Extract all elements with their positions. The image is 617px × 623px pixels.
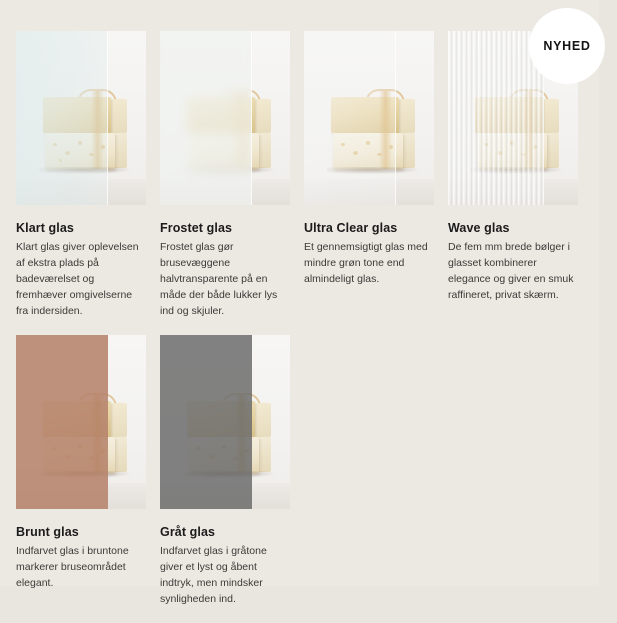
glass-grid-row: Brunt glas Indfarvet glas i bruntone mar… xyxy=(16,335,586,607)
glass-description: Indfarvet glas i bruntone markerer bruse… xyxy=(16,543,146,591)
twine-wrap xyxy=(91,395,104,473)
photo-floor xyxy=(448,179,578,205)
glass-description: Indfarvet glas i gråtone giver et lyst o… xyxy=(160,543,290,607)
glass-image-ultra-clear-glas xyxy=(304,31,434,205)
nyhed-badge: NYHED xyxy=(529,8,605,84)
soap-bar-bottom xyxy=(333,133,403,169)
glass-options-grid: Klart glas Klart glas giver oplevelsen a… xyxy=(16,31,586,623)
twine-wrap xyxy=(523,91,536,169)
glass-description: Klart glas giver oplevelsen af ekstra pl… xyxy=(16,239,146,319)
glass-card-klart-glas[interactable]: Klart glas Klart glas giver oplevelsen a… xyxy=(16,31,146,319)
soap-bar-bottom xyxy=(477,133,547,169)
glass-image-brunt-glas xyxy=(16,335,146,509)
twine-wrap xyxy=(379,91,392,169)
glass-description: Et gennemsigtigt glas med mindre grøn to… xyxy=(304,239,434,287)
glass-card-brunt-glas[interactable]: Brunt glas Indfarvet glas i bruntone mar… xyxy=(16,335,146,607)
soap-bar-bottom xyxy=(189,437,259,473)
glass-title: Brunt glas xyxy=(16,525,146,539)
soap-stack-illustration xyxy=(475,97,559,177)
glass-card-frostet-glas[interactable]: Frostet glas Frostet glas gør brusevægge… xyxy=(160,31,290,319)
soap-shadow xyxy=(39,471,131,478)
soap-stack-illustration xyxy=(43,401,127,481)
photo-floor xyxy=(16,483,146,509)
soap-shadow xyxy=(183,471,275,478)
soap-shadow xyxy=(327,167,419,174)
glass-card-graat-glas[interactable]: Gråt glas Indfarvet glas i gråtone giver… xyxy=(160,335,290,607)
photo-floor xyxy=(160,179,290,205)
glass-title: Wave glas xyxy=(448,221,578,235)
soap-stack-illustration xyxy=(43,97,127,177)
soap-stack-illustration xyxy=(331,97,415,177)
soap-shadow xyxy=(183,167,275,174)
glass-image-klart-glas xyxy=(16,31,146,205)
glass-title: Gråt glas xyxy=(160,525,290,539)
soap-bar-bottom xyxy=(45,133,115,169)
glass-card-ultra-clear-glas[interactable]: Ultra Clear glas Et gennemsigtigt glas m… xyxy=(304,31,434,319)
soap-stack-illustration xyxy=(187,401,271,481)
soap-shadow xyxy=(471,167,563,174)
photo-floor xyxy=(16,179,146,205)
soap-shadow xyxy=(39,167,131,174)
glass-description: De fem mm brede bølger i glasset kombine… xyxy=(448,239,578,303)
soap-bar-bottom xyxy=(45,437,115,473)
glass-image-frostet-glas xyxy=(160,31,290,205)
photo-floor xyxy=(160,483,290,509)
glass-grid-row: Klart glas Klart glas giver oplevelsen a… xyxy=(16,31,586,319)
glass-title: Ultra Clear glas xyxy=(304,221,434,235)
nyhed-badge-label: NYHED xyxy=(543,39,590,53)
soap-stack-illustration xyxy=(187,97,271,177)
soap-bar-bottom xyxy=(189,133,259,169)
photo-floor xyxy=(304,179,434,205)
twine-wrap xyxy=(91,91,104,169)
glass-title: Klart glas xyxy=(16,221,146,235)
glass-image-graat-glas xyxy=(160,335,290,509)
twine-wrap xyxy=(235,91,248,169)
twine-wrap xyxy=(235,395,248,473)
glass-title: Frostet glas xyxy=(160,221,290,235)
glass-description: Frostet glas gør brusevæggene halvtransp… xyxy=(160,239,290,319)
